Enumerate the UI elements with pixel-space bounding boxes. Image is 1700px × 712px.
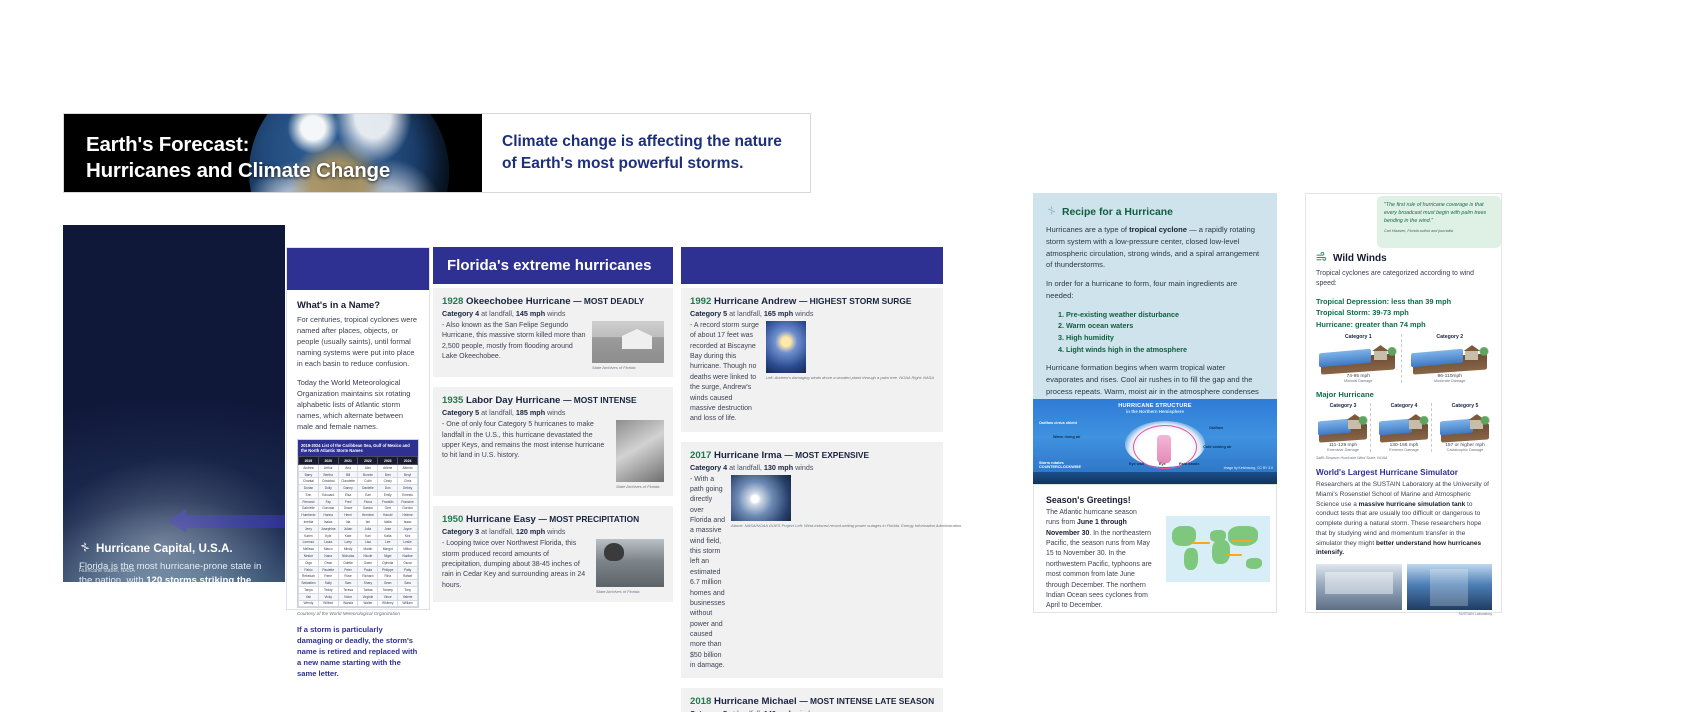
storm-title: 1992 Hurricane Andrew — HIGHEST STORM SU… — [690, 296, 934, 307]
table-row: PabloPaulettePeterPaulaPhilippePatty — [299, 566, 418, 573]
storm-category-rest: at landfall, — [479, 309, 516, 318]
table-cell: Wendy — [299, 600, 319, 607]
storm-description-text: - Looping twice over Northwest Florida, … — [442, 540, 585, 588]
table-cell: Van — [299, 593, 319, 600]
table-column-header: 2019 — [299, 457, 319, 465]
banner-image-panel: Earth's Forecast: Hurricanes and Climate… — [64, 114, 482, 192]
storm-superlative: — MOST EXPENSIVE — [784, 450, 869, 460]
storm-title: 1950 Hurricane Easy — MOST PRECIPITATION — [442, 514, 664, 525]
table-cell: Julia — [358, 525, 378, 532]
table-cell: Fred — [338, 498, 358, 505]
storm-category: Category 4 — [442, 309, 479, 318]
table-row: RebekahReneRoseRichardRinaRafael — [299, 573, 418, 580]
table-cell: Ernesto — [398, 492, 418, 499]
storm-photo-wrapper: State Archives of Florida — [596, 539, 664, 594]
table-cell: Hermine — [358, 512, 378, 519]
table-column-header: 2024 — [398, 457, 418, 465]
hiaasen-quote-bubble: "The first rule of hurricane coverage is… — [1377, 196, 1501, 248]
table-cell: Danny — [338, 485, 358, 492]
table-row: ErinEdouardElsaEarlEmilyErnesto — [299, 492, 418, 499]
table-cell: Kate — [338, 532, 358, 539]
simulator-photo-row — [1316, 564, 1492, 610]
storm-name: Hurricane Michael — [714, 696, 799, 707]
category-damage-illustration — [1408, 342, 1493, 372]
storm-entry: 2017 Hurricane Irma — MOST EXPENSIVECate… — [681, 432, 943, 679]
table-cell: Ida — [338, 519, 358, 526]
table-cell: Walter — [358, 600, 378, 607]
table-column-header: 2020 — [318, 457, 338, 465]
table-cell: Wanda — [338, 600, 358, 607]
map-landmass-asia — [1228, 526, 1258, 546]
diagram-label-outflow-cirrus: Outflow cirrus shield — [1039, 421, 1099, 425]
table-cell: Isaias — [318, 519, 338, 526]
table-cell: Omar — [318, 559, 338, 566]
table-cell: Vince — [378, 593, 398, 600]
storm-body-row: - One of only four Category 5 hurricanes… — [442, 420, 664, 489]
table-cell: Josephine — [318, 525, 338, 532]
table-cell: Tammy — [378, 586, 398, 593]
storm-names-table-title: 2019-2024 List of the Caribbean Sea, Gul… — [298, 440, 418, 456]
table-cell: Paulette — [318, 566, 338, 573]
page-subtitle-line2: of Earth's most powerful storms. — [502, 153, 782, 175]
storm-photo-credit: State Archives of Florida — [616, 484, 664, 489]
table-cell: Fiona — [358, 498, 378, 505]
diagram-label-eye-wall: Eye wall — [1129, 462, 1144, 466]
table-cell: Peter — [338, 566, 358, 573]
diagram-credit: Image by Kelvinsong, CC BY 3.0 — [1224, 466, 1273, 470]
storm-names-table-credit: Courtesy of the World Meteorological Org… — [297, 611, 419, 616]
table-cell: Gonzalo — [318, 505, 338, 512]
illustration-house-shape — [1374, 350, 1387, 360]
storm-entry: 1928 Okeechobee Hurricane — MOST DEADLYC… — [433, 288, 673, 377]
table-cell: Leslie — [398, 539, 418, 546]
diagram-label-eye: Eye — [1159, 462, 1166, 466]
table-cell: Imelda — [299, 519, 319, 526]
table-cell: Marco — [318, 546, 338, 553]
storm-category-rest: at landfall, — [727, 309, 764, 318]
page-subtitle: Climate change is affecting the nature o… — [502, 131, 782, 176]
table-cell: Alex — [358, 464, 378, 471]
table-cell: Cristobal — [318, 478, 338, 485]
arrow-left-icon — [185, 515, 285, 528]
storm-wind-speed: 130 mph — [764, 463, 793, 472]
table-cell: Barry — [299, 471, 319, 478]
table-cell: Shary — [358, 580, 378, 587]
name-card-footer-note: If a storm is particularly damaging or d… — [297, 624, 419, 679]
table-cell: Elsa — [338, 492, 358, 499]
table-cell: Whitney — [378, 600, 398, 607]
table-cell: Danielle — [358, 485, 378, 492]
storm-photo — [731, 475, 791, 521]
table-cell: Arlene — [378, 464, 398, 471]
table-cell: Bonnie — [358, 471, 378, 478]
category-name: Category 4 — [1377, 403, 1431, 409]
table-cell: Margot — [378, 546, 398, 553]
category-cell: Category 5157 or higher mphCatastrophic … — [1438, 403, 1492, 452]
recipe-heading: Recipe for a Hurricane — [1046, 205, 1264, 219]
table-cell: Andrea — [299, 464, 319, 471]
storm-photo-wrapper: Left: Andrew's damaging winds drove a wo… — [766, 321, 934, 425]
table-cell: Fay — [318, 498, 338, 505]
storm-title: 2017 Hurricane Irma — MOST EXPENSIVE — [690, 450, 934, 461]
storm-body-row: - A record storm surge of about 17 feet … — [690, 321, 934, 425]
table-cell: Erin — [299, 492, 319, 499]
table-row: ImeldaIsaiasIdaIanIdaliaIsaac — [299, 519, 418, 526]
wind-swirl-icon — [1316, 252, 1328, 265]
hurricane-swirl-icon — [1046, 205, 1057, 219]
simulator-photo-tank — [1316, 564, 1402, 610]
name-card-content: What's in a Name? For centuries, tropica… — [287, 290, 429, 687]
category-damage-illustration — [1377, 411, 1431, 441]
illustration-tree-shape — [1387, 347, 1397, 358]
category-damage-label: Extensive Damage — [1316, 448, 1370, 452]
diagram-ocean-band — [1033, 472, 1277, 484]
category-damage-label: Minimal Damage — [1316, 379, 1401, 383]
table-cell: Patty — [398, 566, 418, 573]
quote-text: "The first rule of hurricane coverage is… — [1384, 202, 1494, 226]
table-cell: Gert — [378, 505, 398, 512]
table-cell: Don — [378, 485, 398, 492]
storm-name: Hurricane Easy — [466, 514, 539, 525]
storm-superlative: — MOST DEADLY — [573, 296, 644, 306]
wind-scale-tropical-depression: Tropical Depression: less than 39 mph — [1316, 296, 1492, 307]
storm-description-text: - Also known as the San Felipe Segundo H… — [442, 322, 586, 360]
table-cell: Chris — [398, 478, 418, 485]
table-row: BarryBerthaBillBonnieBretBeryl — [299, 471, 418, 478]
category-damage-label: Extreme Damage — [1377, 448, 1431, 452]
storm-wind-rest: winds — [545, 408, 565, 417]
table-cell: Nestor — [299, 553, 319, 560]
table-cell: Ian — [358, 519, 378, 526]
florida-storms-column-left: 1928 Okeechobee Hurricane — MOST DEADLYC… — [433, 288, 673, 574]
hurricane-swirl-icon — [79, 541, 91, 556]
map-landmass-africa — [1212, 540, 1230, 564]
table-cell: Laura — [318, 539, 338, 546]
map-landmass-australia — [1246, 558, 1262, 569]
simulator-heading: World's Largest Hurricane Simulator — [1316, 468, 1492, 477]
recipe-ingredient-item: Pre-existing weather disturbance — [1066, 309, 1264, 321]
diagram-label-cold-sinking-air: Cold sinking air — [1203, 445, 1231, 449]
table-row: HumbertoHannaHenriHermineHaroldHelene — [299, 512, 418, 519]
storm-photo-credit: Left: Andrew's damaging winds drove a wo… — [766, 375, 934, 380]
table-cell: Sebastien — [299, 580, 319, 587]
table-cell: Earl — [358, 492, 378, 499]
recipe-p1-a: Hurricanes are a type of — [1046, 225, 1129, 234]
table-cell: Jerry — [299, 525, 319, 532]
storm-photo — [596, 539, 664, 587]
category-row-minor: Category 174-95 mphMinimal DamageCategor… — [1316, 334, 1492, 383]
table-cell: Nadine — [398, 553, 418, 560]
storm-description: - Looping twice over Northwest Florida, … — [442, 539, 590, 594]
table-cell: Nicole — [358, 553, 378, 560]
table-cell: Fernand — [299, 498, 319, 505]
storm-category-rest: at landfall, — [479, 527, 516, 536]
diagram-label-rain-bands: Rain bands — [1179, 462, 1199, 466]
table-row: TanyaTeddyTeresaTobiasTammyTony — [299, 586, 418, 593]
storm-photo — [592, 321, 664, 363]
header-banner: Earth's Forecast: Hurricanes and Climate… — [63, 113, 811, 193]
storm-category-line: Category 3 at landfall, 120 mph winds — [442, 527, 664, 536]
table-cell: Sally — [318, 580, 338, 587]
storm-description: - A record storm surge of about 17 feet … — [690, 321, 760, 425]
table-cell: William — [398, 600, 418, 607]
storm-category: Category 4 — [690, 463, 727, 472]
storm-wind-speed: 145 mph — [516, 309, 545, 318]
table-cell: Beryl — [398, 471, 418, 478]
table-cell: Philippe — [378, 566, 398, 573]
category-cell: Category 4130-156 mphExtreme Damage — [1377, 403, 1432, 452]
table-cell: Edouard — [318, 492, 338, 499]
page-subtitle-line1: Climate change is affecting the nature — [502, 131, 782, 153]
recipe-ingredient-item: Warm ocean waters — [1066, 320, 1264, 332]
storm-wind-rest: winds — [545, 527, 565, 536]
table-row: OlgaOmarOdetteOwenOpheliaOscar — [299, 559, 418, 566]
category-damage-label: Catastrophic Damage — [1438, 448, 1492, 452]
table-cell: Tony — [398, 586, 418, 593]
table-cell: Rene — [318, 573, 338, 580]
table-cell: Francine — [398, 498, 418, 505]
storm-category: Category 3 — [442, 527, 479, 536]
table-cell: Karen — [299, 532, 319, 539]
table-cell: Isaac — [398, 519, 418, 526]
storm-wind-speed: 165 mph — [764, 309, 793, 318]
category-damage-illustration — [1438, 411, 1492, 441]
table-cell: Oscar — [398, 559, 418, 566]
name-card-heading: What's in a Name? — [297, 299, 419, 310]
table-row: KarenKyleKateKarlKatiaKirk — [299, 532, 418, 539]
seasons-greetings-heading: Season's Greetings! — [1046, 495, 1152, 505]
table-cell: Pablo — [299, 566, 319, 573]
table-cell: Victor — [338, 593, 358, 600]
category-name: Category 1 — [1316, 334, 1401, 340]
storm-description: - With a path going directly over Florid… — [690, 475, 725, 672]
table-cell: Dolly — [318, 485, 338, 492]
table-row: WendyWilfredWandaWalterWhitneyWilliam — [299, 600, 418, 607]
storm-wind-speed: 185 mph — [516, 408, 545, 417]
table-cell: Wilfred — [318, 600, 338, 607]
storm-year: 1928 — [442, 296, 466, 307]
storm-photo-wrapper: State Archives of Florida — [616, 420, 664, 489]
table-cell: Bertha — [318, 471, 338, 478]
table-cell: Julian — [338, 525, 358, 532]
storm-superlative: — MOST INTENSE — [563, 395, 637, 405]
florida-section-heading-bar-right — [681, 247, 943, 284]
storm-description: - One of only four Category 5 hurricanes… — [442, 420, 610, 489]
storm-category-line: Category 4 at landfall, 145 mph winds — [442, 309, 664, 318]
category-row-major: Category 3111-129 mphExtensive DamageCat… — [1316, 403, 1492, 452]
seasons-greetings-body: The Atlantic hurricane season runs from … — [1046, 508, 1152, 612]
storm-wind-rest: winds — [793, 309, 813, 318]
storm-year: 2017 — [690, 450, 714, 461]
storm-photo-credit: State Archives of Florida — [596, 589, 664, 594]
table-row: VanVickyVictorVirginieVinceValerie — [299, 593, 418, 600]
table-row: SebastienSallySamSharySeanSara — [299, 580, 418, 587]
storm-year: 1992 — [690, 296, 714, 307]
table-cell: Katia — [378, 532, 398, 539]
table-cell: Martin — [358, 546, 378, 553]
name-card-paragraph-1: For centuries, tropical cyclones were na… — [297, 314, 419, 370]
recipe-paragraph-1: Hurricanes are a type of tropical cyclon… — [1046, 224, 1264, 271]
storm-photo — [616, 420, 664, 482]
recipe-p1-bold: tropical cyclone — [1129, 225, 1187, 234]
storm-entry: 1992 Hurricane Andrew — HIGHEST STORM SU… — [681, 288, 943, 432]
storm-category-line: Category 5 at landfall, 165 mph winds — [690, 309, 934, 318]
major-hurricane-heading: Major Hurricane — [1316, 390, 1492, 399]
table-cell: Helene — [398, 512, 418, 519]
wind-scale-tropical-storm: Tropical Storm: 39-73 mph — [1316, 307, 1492, 318]
table-column-header: 2022 — [358, 457, 378, 465]
table-row: NestorNanaNicholasNicoleNigelNadine — [299, 553, 418, 560]
diagram-label-rotation: Storm rotates COUNTERCLOCKWISE — [1039, 461, 1093, 469]
hurricane-capital-title: Hurricane Capital, U.S.A. — [96, 542, 233, 555]
table-cell: Nigel — [378, 553, 398, 560]
category-damage-label: Moderate Damage — [1408, 379, 1493, 383]
table-cell: Virginie — [358, 593, 378, 600]
table-cell: Rebekah — [299, 573, 319, 580]
map-storm-track-indian — [1226, 554, 1242, 557]
storm-superlative: — MOST INTENSE LATE SEASON — [799, 696, 934, 706]
table-body: AndreaArthurAnaAlexArleneAlbertoBarryBer… — [299, 464, 418, 606]
table-cell: Emily — [378, 492, 398, 499]
table-cell: Paula — [358, 566, 378, 573]
hurricane-capital-heading: Hurricane Capital, U.S.A. — [79, 541, 271, 556]
illustration-tree-shape — [1479, 347, 1489, 358]
table-cell: Tobias — [358, 586, 378, 593]
table-column-header: 2023 — [378, 457, 398, 465]
simulator-body: Researchers at the SUSTAIN Laboratory at… — [1316, 480, 1492, 558]
storm-photo-wrapper: Above: NASA/NOAA GOES Project Left: Wind… — [731, 475, 961, 672]
recipe-ingredient-item: Light winds high in the atmosphere — [1066, 344, 1264, 356]
table-row: JerryJosephineJulianJuliaJoseJoyce — [299, 525, 418, 532]
storm-year: 1950 — [442, 514, 466, 525]
storm-description-text: - A record storm surge of about 17 feet … — [690, 322, 759, 422]
simulator-photo-interior — [1407, 564, 1493, 610]
storm-body-row: - With a path going directly over Florid… — [690, 475, 934, 672]
storm-wind-rest: winds — [793, 463, 813, 472]
storm-title: 2018 Hurricane Michael — MOST INTENSE LA… — [690, 696, 934, 707]
table-cell: Sam — [338, 580, 358, 587]
table-cell: Jose — [378, 525, 398, 532]
storm-category: Category 5 — [690, 309, 727, 318]
banner-subtitle-panel: Climate change is affecting the nature o… — [482, 114, 810, 192]
table-cell: Kirk — [398, 532, 418, 539]
table-cell: Humberto — [299, 512, 319, 519]
table-cell: Franklin — [378, 498, 398, 505]
storm-title: 1935 Labor Day Hurricane — MOST INTENSE — [442, 395, 664, 406]
storm-names-table: 2019-2024 List of the Caribbean Sea, Gul… — [297, 439, 419, 608]
table-cell: Claudette — [338, 478, 358, 485]
storm-year: 1935 — [442, 395, 466, 406]
table-row: FernandFayFredFionaFranklinFrancine — [299, 498, 418, 505]
sim-text-bold: massive hurricane simulation tank — [1359, 501, 1466, 508]
category-cell: Category 3111-129 mphExtensive Damage — [1316, 403, 1371, 452]
hurricane-structure-diagram: HURRICANE STRUCTURE in the Northern Hemi… — [1033, 399, 1277, 484]
storm-name: Labor Day Hurricane — [466, 395, 563, 406]
wild-winds-card: Wild Winds Tropical cyclones are categor… — [1305, 193, 1502, 613]
storm-year: 2018 — [690, 696, 714, 707]
table-cell: Ophelia — [378, 559, 398, 566]
storm-category-line: Category 4 at landfall, 130 mph winds — [690, 463, 934, 472]
page-title-line2: Hurricanes and Climate Change — [86, 158, 390, 184]
diagram-subtitle: in the Northern Hemisphere — [1033, 409, 1277, 414]
table-cell: Milton — [398, 546, 418, 553]
table-cell: Idalia — [378, 519, 398, 526]
storm-photo-wrapper: State Archives of Florida — [592, 321, 664, 370]
table-cell: Gaston — [358, 505, 378, 512]
storm-entry: 1950 Hurricane Easy — MOST PRECIPITATION… — [433, 496, 673, 601]
table-row: MelissaMarcoMindyMartinMargotMilton — [299, 546, 418, 553]
diagram-label-warm-rising-air: Warm rising air — [1053, 435, 1081, 439]
storm-title: 1928 Okeechobee Hurricane — MOST DEADLY — [442, 296, 664, 307]
category-damage-illustration — [1316, 411, 1370, 441]
hurricane-capital-photo-credit: Hurricane Isabel, NASA — [79, 568, 135, 574]
table-cell: Kyle — [318, 532, 338, 539]
table-cell: Gordon — [398, 505, 418, 512]
storm-wind-rest: winds — [545, 309, 565, 318]
category-name: Category 5 — [1438, 403, 1492, 409]
table-cell: Henri — [338, 512, 358, 519]
storm-photo-credit: State Archives of Florida — [592, 365, 664, 370]
recipe-title: Recipe for a Hurricane — [1062, 207, 1173, 218]
table-cell: Lorenzo — [299, 539, 319, 546]
storm-name: Hurricane Andrew — [714, 296, 799, 307]
storm-category: Category 5 — [442, 408, 479, 417]
table-cell: Teresa — [338, 586, 358, 593]
wind-scale-credit: Saffir-Simpson Hurricane Wind Scale, NOA… — [1316, 456, 1492, 460]
table-cell: Debby — [398, 485, 418, 492]
table-cell: Ana — [338, 464, 358, 471]
table-cell: Owen — [358, 559, 378, 566]
category-cell: Category 174-95 mphMinimal Damage — [1316, 334, 1402, 383]
illustration-tree-shape — [1419, 416, 1429, 427]
map-landmass-south-america — [1184, 548, 1198, 570]
table-cell: Hanna — [318, 512, 338, 519]
storm-names-grid: 201920202021202220232024 AndreaArthurAna… — [298, 456, 418, 607]
infographic-page: Earth's Forecast: Hurricanes and Climate… — [0, 0, 1700, 712]
season-text-b: . In the northeastern Pacific, the seaso… — [1046, 530, 1152, 610]
category-damage-illustration — [1316, 342, 1401, 372]
table-cell: Dorian — [299, 485, 319, 492]
table-cell: Teddy — [318, 586, 338, 593]
storm-body-row: - Also known as the San Felipe Segundo H… — [442, 321, 664, 370]
table-row: AndreaArthurAnaAlexArleneAlberto — [299, 464, 418, 471]
recipe-paragraph-2: In order for a hurricane to form, four m… — [1046, 278, 1264, 302]
storm-superlative: — HIGHEST STORM SURGE — [799, 296, 911, 306]
storm-entry: 2018 Hurricane Michael — MOST INTENSE LA… — [681, 678, 943, 712]
table-cell: Richard — [358, 573, 378, 580]
diagram-title: HURRICANE STRUCTURE — [1033, 399, 1277, 409]
table-cell: Gabrielle — [299, 505, 319, 512]
table-cell: Colin — [358, 478, 378, 485]
table-row: GabrielleGonzaloGraceGastonGertGordon — [299, 505, 418, 512]
table-cell: Bret — [378, 471, 398, 478]
wind-scale-hurricane: Hurricane: greater than 74 mph — [1316, 319, 1492, 330]
table-row: ChantalCristobalClaudetteColinCindyChris — [299, 478, 418, 485]
seasons-greetings-map-panel — [1160, 485, 1276, 612]
table-cell: Bill — [338, 471, 358, 478]
quote-attribution: Carl Hiaasen, Florida author and journal… — [1384, 229, 1494, 233]
table-cell: Arthur — [318, 464, 338, 471]
table-cell: Alberto — [398, 464, 418, 471]
storm-name: Hurricane Irma — [714, 450, 784, 461]
table-row: DorianDollyDannyDanielleDonDebby — [299, 485, 418, 492]
hurricane-capital-content: Hurricane Capital, U.S.A. Florida is the… — [79, 541, 271, 582]
seasons-greetings-text-panel: Season's Greetings! The Atlantic hurrica… — [1034, 485, 1160, 612]
seasons-greetings-card: Season's Greetings! The Atlantic hurrica… — [1033, 484, 1277, 613]
table-header-row: 201920202021202220232024 — [299, 457, 418, 465]
storm-category-line: Category 5 at landfall, 185 mph winds — [442, 408, 664, 417]
wild-winds-content: Wild Winds Tropical cyclones are categor… — [1316, 252, 1492, 616]
